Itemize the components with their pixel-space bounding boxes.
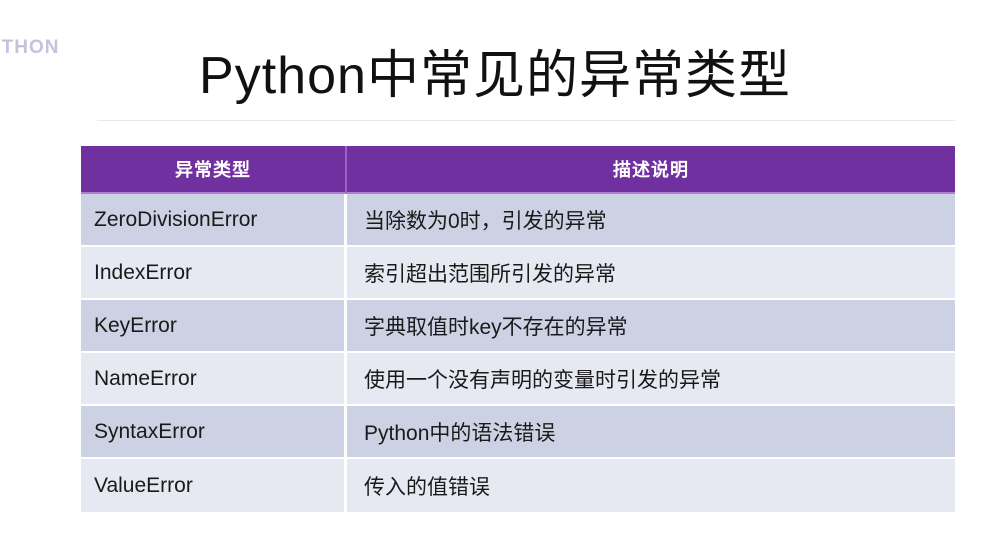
table-row: ZeroDivisionError 当除数为0时，引发的异常 [81, 194, 955, 247]
cell-description: 当除数为0时，引发的异常 [347, 194, 955, 247]
cell-exception-type: ZeroDivisionError [81, 194, 347, 247]
table-row: IndexError 索引超出范围所引发的异常 [81, 247, 955, 300]
table-row: KeyError 字典取值时key不存在的异常 [81, 300, 955, 353]
cell-description: 字典取值时key不存在的异常 [347, 300, 955, 353]
cell-exception-type: NameError [81, 353, 347, 406]
cell-description: Python中的语法错误 [347, 406, 955, 459]
cell-exception-type: ValueError [81, 459, 347, 512]
cell-description: 索引超出范围所引发的异常 [347, 247, 955, 300]
column-header-exception-type: 异常类型 [81, 146, 347, 194]
table-row: SyntaxError Python中的语法错误 [81, 406, 955, 459]
cell-description: 使用一个没有声明的变量时引发的异常 [347, 353, 955, 406]
slide-title: Python中常见的异常类型 [0, 48, 990, 105]
exception-types-table: 异常类型 描述说明 ZeroDivisionError 当除数为0时，引发的异常… [81, 146, 955, 512]
cell-description: 传入的值错误 [347, 459, 955, 512]
table-header-row: 异常类型 描述说明 [81, 146, 955, 194]
title-divider [97, 120, 955, 121]
table-body: ZeroDivisionError 当除数为0时，引发的异常 IndexErro… [81, 194, 955, 512]
cell-exception-type: IndexError [81, 247, 347, 300]
table-header: 异常类型 描述说明 [81, 146, 955, 194]
cell-exception-type: KeyError [81, 300, 347, 353]
table-row: ValueError 传入的值错误 [81, 459, 955, 512]
cell-exception-type: SyntaxError [81, 406, 347, 459]
table-row: NameError 使用一个没有声明的变量时引发的异常 [81, 353, 955, 406]
column-header-description: 描述说明 [347, 146, 955, 194]
